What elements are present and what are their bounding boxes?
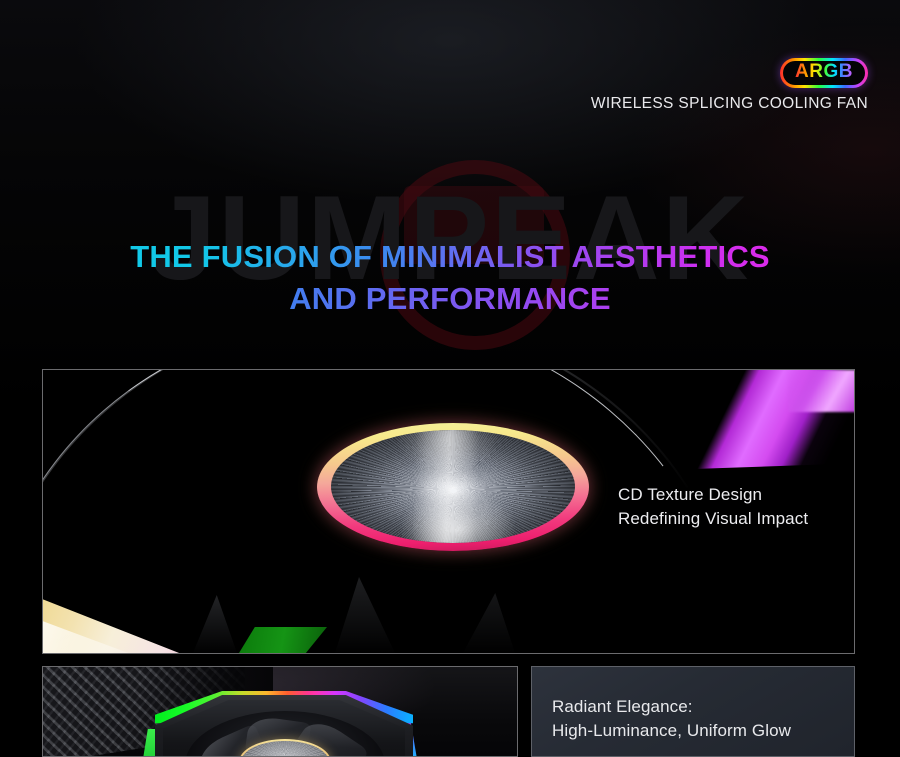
- cd-hub-disc: [331, 430, 575, 543]
- hero-caption: CD Texture Design Redefining Visual Impa…: [618, 483, 808, 531]
- hero-caption-line-2: Redefining Visual Impact: [618, 507, 808, 531]
- rgb-strip-top-right-edge: [788, 370, 855, 412]
- argb-badge-inner: ARGB: [783, 61, 865, 85]
- cd-hub-center-dot: [450, 489, 457, 493]
- panel-right-caption-line-1: Radiant Elegance:: [552, 695, 791, 719]
- headline-line-1: THE FUSION OF MINIMALIST AESTHETICS: [0, 236, 900, 278]
- radiant-elegance-panel: Radiant Elegance: High-Luminance, Unifor…: [531, 666, 855, 757]
- product-banner-page: ARGB WIRELESS SPLICING COOLING FAN JUMPE…: [0, 0, 900, 757]
- rgb-fan-image-panel: [42, 666, 518, 757]
- cd-hub: [317, 423, 589, 553]
- argb-badge: ARGB: [780, 58, 868, 88]
- argb-badge-label: ARGB: [795, 62, 853, 82]
- panel-right-caption-line-2: High-Luminance, Uniform Glow: [552, 719, 791, 743]
- panel-right-caption: Radiant Elegance: High-Luminance, Unifor…: [552, 695, 791, 743]
- hero-image-panel: CD Texture Design Redefining Visual Impa…: [42, 369, 855, 654]
- hero-caption-line-1: CD Texture Design: [618, 483, 808, 507]
- header: ARGB WIRELESS SPLICING COOLING FAN: [568, 58, 868, 113]
- headline-line-2: AND PERFORMANCE: [0, 278, 900, 320]
- page-title: THE FUSION OF MINIMALIST AESTHETICS AND …: [0, 236, 900, 320]
- header-tagline: WIRELESS SPLICING COOLING FAN: [568, 95, 868, 113]
- cd-hub-sheen: [331, 430, 575, 543]
